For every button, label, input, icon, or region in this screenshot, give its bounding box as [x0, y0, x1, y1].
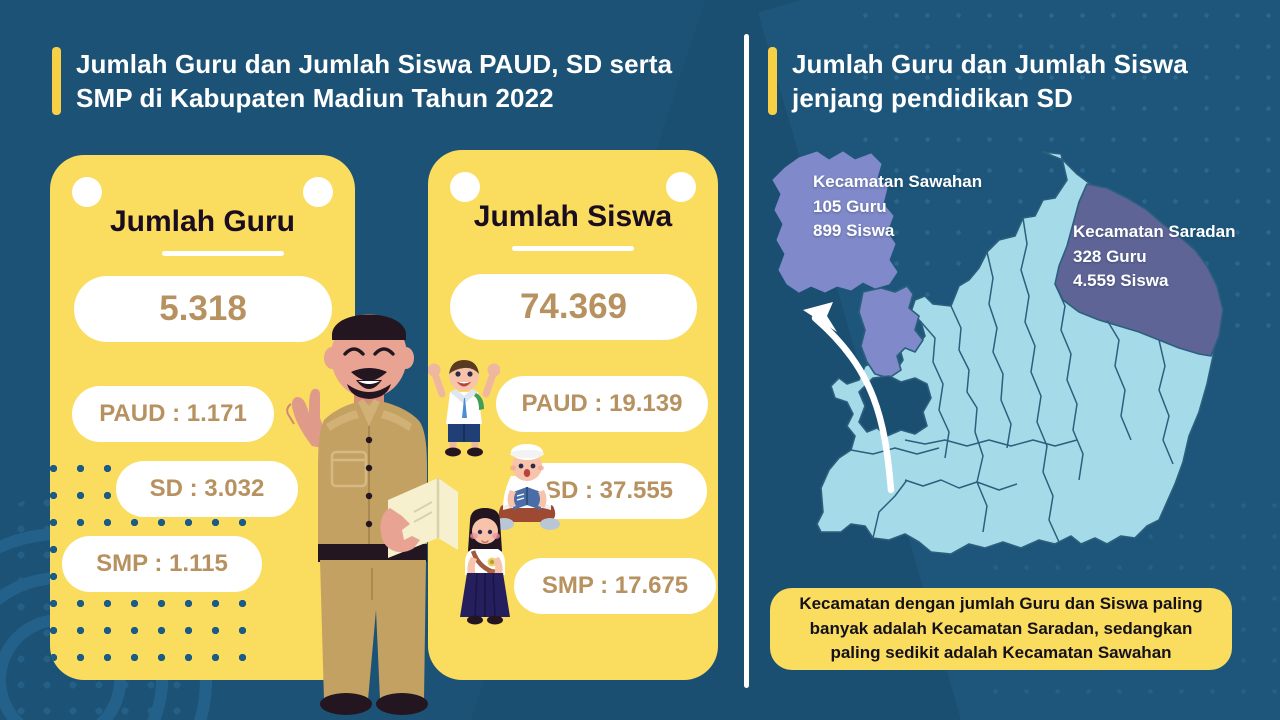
card-punch-hole-right	[666, 172, 696, 202]
map-kabupaten-madiun: Kecamatan Sawahan 105 Guru 899 Siswa Kec…	[755, 140, 1265, 580]
siswa-paud-value: PAUD : 19.139	[496, 376, 708, 432]
map-label-sawahan: Kecamatan Sawahan 105 Guru 899 Siswa	[813, 170, 982, 244]
map-label-saradan: Kecamatan Saradan 328 Guru 4.559 Siswa	[1073, 220, 1236, 294]
guru-card-title: Jumlah Guru	[50, 205, 355, 239]
map-caption-text: Kecamatan dengan jumlah Guru dan Siswa p…	[786, 592, 1216, 666]
title-accent-bar-right	[768, 47, 777, 115]
saradan-siswa: 4.559 Siswa	[1073, 269, 1236, 294]
guru-title-underline	[162, 251, 284, 256]
siswa-total-value: 74.369	[450, 274, 697, 340]
right-title-text: Jumlah Guru dan Jumlah Siswa jenjang pen…	[792, 47, 1238, 116]
siswa-title-underline	[512, 246, 634, 251]
card-punch-hole-left	[72, 177, 102, 207]
panel-divider	[744, 34, 749, 688]
saradan-guru: 328 Guru	[1073, 245, 1236, 270]
left-panel-title: Jumlah Guru dan Jumlah Siswa PAUD, SD se…	[52, 47, 712, 116]
card-punch-hole-left	[450, 172, 480, 202]
siswa-smp-value: SMP : 17.675	[514, 558, 716, 614]
left-title-text: Jumlah Guru dan Jumlah Siswa PAUD, SD se…	[76, 47, 712, 116]
guru-sd-value: SD : 3.032	[116, 461, 298, 517]
map-callout-arrow-head	[803, 302, 837, 332]
right-panel-title: Jumlah Guru dan Jumlah Siswa jenjang pen…	[768, 47, 1238, 116]
siswa-card-title: Jumlah Siswa	[428, 200, 718, 234]
guru-smp-value: SMP : 1.115	[62, 536, 262, 592]
sawahan-name: Kecamatan Sawahan	[813, 170, 982, 195]
sawahan-guru: 105 Guru	[813, 195, 982, 220]
card-punch-hole-right	[303, 177, 333, 207]
guru-paud-value: PAUD : 1.171	[72, 386, 274, 442]
sawahan-siswa: 899 Siswa	[813, 219, 982, 244]
infographic-canvas: Jumlah Guru dan Jumlah Siswa PAUD, SD se…	[0, 0, 1280, 720]
stat-card-jumlah-guru: Jumlah Guru 5.318 PAUD : 1.171 SD : 3.03…	[50, 155, 355, 680]
title-accent-bar-left	[52, 47, 61, 115]
siswa-sd-value: SD : 37.555	[511, 463, 707, 519]
map-caption-box: Kecamatan dengan jumlah Guru dan Siswa p…	[770, 588, 1232, 670]
stat-card-jumlah-siswa: Jumlah Siswa 74.369 PAUD : 19.139 SD : 3…	[428, 150, 718, 680]
saradan-name: Kecamatan Saradan	[1073, 220, 1236, 245]
guru-total-value: 5.318	[74, 276, 332, 342]
